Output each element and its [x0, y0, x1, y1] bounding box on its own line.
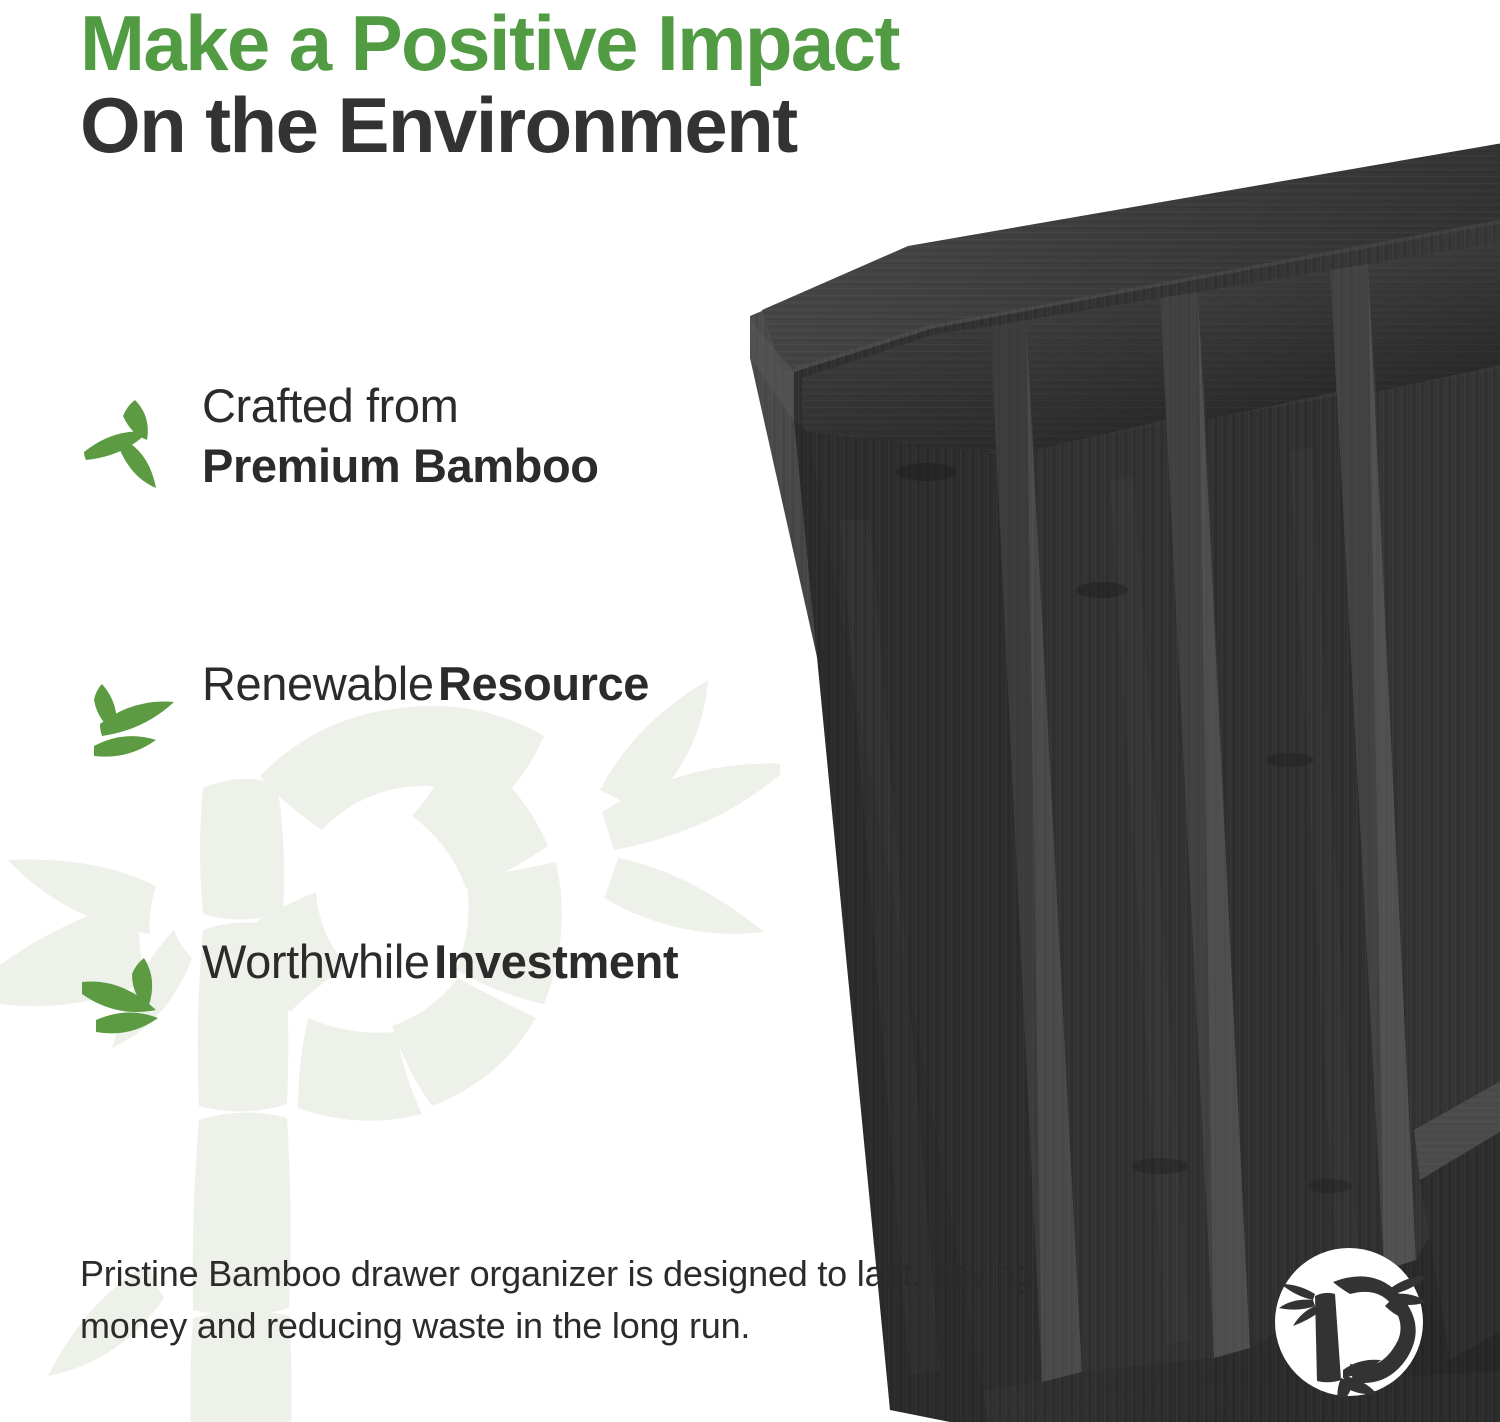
headline-line-1: Make a Positive Impact	[80, 2, 1200, 84]
footer-paragraph: Pristine Bamboo drawer organizer is desi…	[80, 1248, 1080, 1352]
feature-item-premium-bamboo: Crafted from Premium Bamboo	[78, 382, 718, 482]
feature-line-2: Investment	[434, 935, 678, 988]
feature-item-worthwhile-investment: Worthwhile Investment	[78, 938, 718, 1038]
footer-description: Pristine Bamboo drawer organizer is desi…	[80, 1248, 1080, 1352]
feature-item-text: Crafted from Premium Bamboo	[202, 376, 718, 496]
headline-line-2: On the Environment	[80, 84, 1200, 166]
feature-line-1: Worthwhile	[202, 935, 430, 988]
feature-item-text: Renewable Resource	[202, 654, 649, 714]
feature-line-1: Crafted from	[202, 379, 458, 432]
marketing-image-canvas: Make a Positive Impact On the Environmen…	[0, 0, 1500, 1422]
page-title: Make a Positive Impact On the Environmen…	[80, 2, 1200, 166]
feature-item-text: Worthwhile Investment	[202, 932, 678, 992]
pristine-bamboo-p-logo	[1273, 1246, 1425, 1398]
bamboo-leaf-icon	[78, 664, 182, 768]
feature-list: Crafted from Premium Bamboo Renewable Re…	[78, 382, 718, 1038]
feature-line-1: Renewable	[202, 657, 434, 710]
feature-line-2: Resource	[438, 657, 649, 710]
bamboo-drawer-organizer-photo	[690, 120, 1500, 1422]
bamboo-leaf-icon	[78, 386, 182, 490]
feature-item-renewable-resource: Renewable Resource	[78, 660, 718, 760]
feature-line-2: Premium Bamboo	[202, 439, 599, 492]
bamboo-leaf-icon	[78, 942, 182, 1046]
